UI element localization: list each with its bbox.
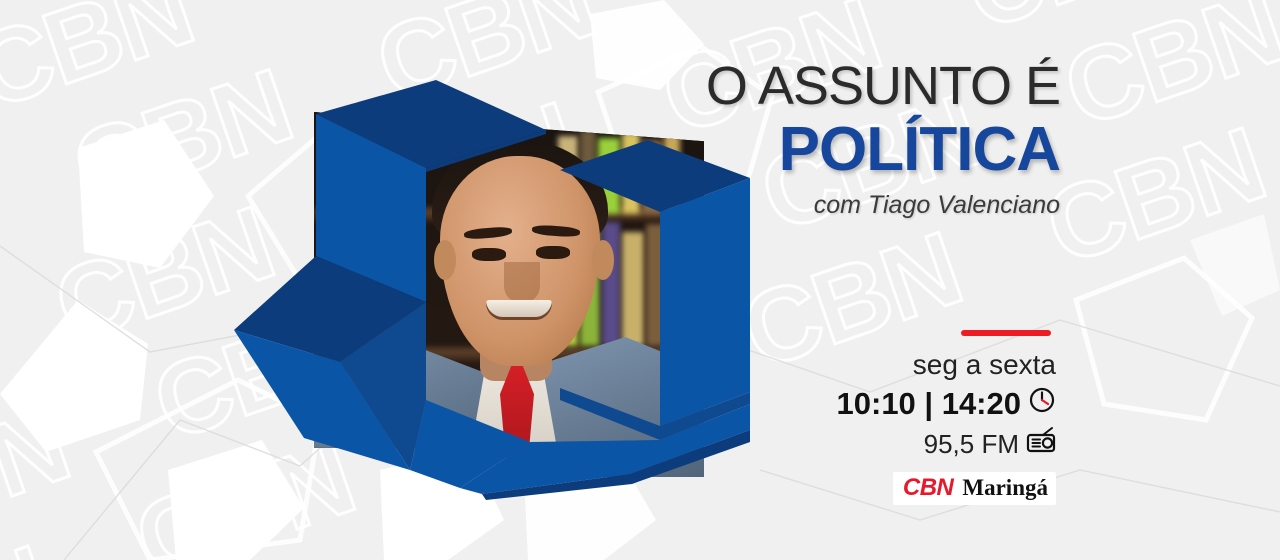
cbn-watermark-tile: CBN (0, 373, 118, 560)
frequency-row: 95,5 FM (820, 426, 1056, 462)
broadcast-times-row: 10:10 | 14:20 (820, 384, 1056, 424)
clock-icon (1028, 384, 1056, 424)
frequency-label: 95,5 FM (924, 427, 1019, 461)
station-logo: CBN Maringá (893, 472, 1056, 505)
cbn-watermark-tile: CBN (0, 511, 100, 560)
cbn-watermark-tile: CBN (228, 0, 545, 40)
city-name: Maringá (962, 475, 1048, 501)
cbn-watermark-tile: CBN (0, 276, 19, 484)
cbn-wordmark: CBN (903, 475, 954, 501)
radio-icon (1026, 426, 1056, 462)
cbn-watermark-tile: CBN (0, 139, 37, 347)
cbn-watermark-tile: CBN (0, 0, 242, 145)
program-title-line2: POLÍTICA (640, 116, 1060, 184)
cbn-watermark-tile: CBN (630, 0, 947, 33)
program-title-line1: O ASSUNTO É (640, 56, 1060, 116)
broadcast-days: seg a sexta (820, 348, 1056, 382)
broadcast-times: 10:10 | 14:20 (837, 384, 1021, 424)
radio-program-banner: CBNCBNCBNCBNCBNCBNCBNCBNCBNCBNCBNCBNCBNC… (0, 0, 1280, 560)
red-divider-rule (961, 330, 1051, 336)
schedule-block: seg a sexta 10:10 | 14:20 95,5 FM (820, 330, 1056, 505)
program-host-line: com Tiago Valenciano (640, 190, 1060, 220)
program-title-block: O ASSUNTO É POLÍTICA com Tiago Valencian… (640, 56, 1060, 220)
